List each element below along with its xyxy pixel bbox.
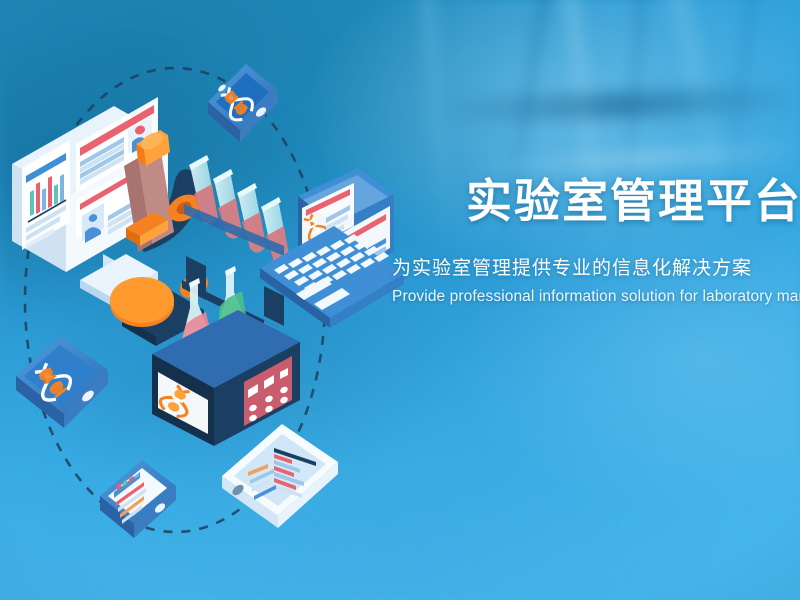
smartphone-report-bottom <box>100 460 176 538</box>
subtitle-english: Provide professional information solutio… <box>392 287 800 306</box>
illustration-lab-devices <box>0 0 420 600</box>
smartphone-dna-top <box>208 64 278 142</box>
laboratory-platform-banner: 实验室管理平台 为实验室管理提供专业的信息化解决方案 Provide profe… <box>0 0 800 600</box>
banner-copy: 实验室管理平台 为实验室管理提供专业的信息化解决方案 Provide profe… <box>392 176 800 307</box>
tablet-data-bottom <box>222 424 338 528</box>
subtitle-chinese: 为实验室管理提供专业的信息化解决方案 <box>392 257 800 282</box>
page-title: 实验室管理平台 <box>392 176 800 228</box>
tablet-phone-dna-left <box>16 336 108 428</box>
